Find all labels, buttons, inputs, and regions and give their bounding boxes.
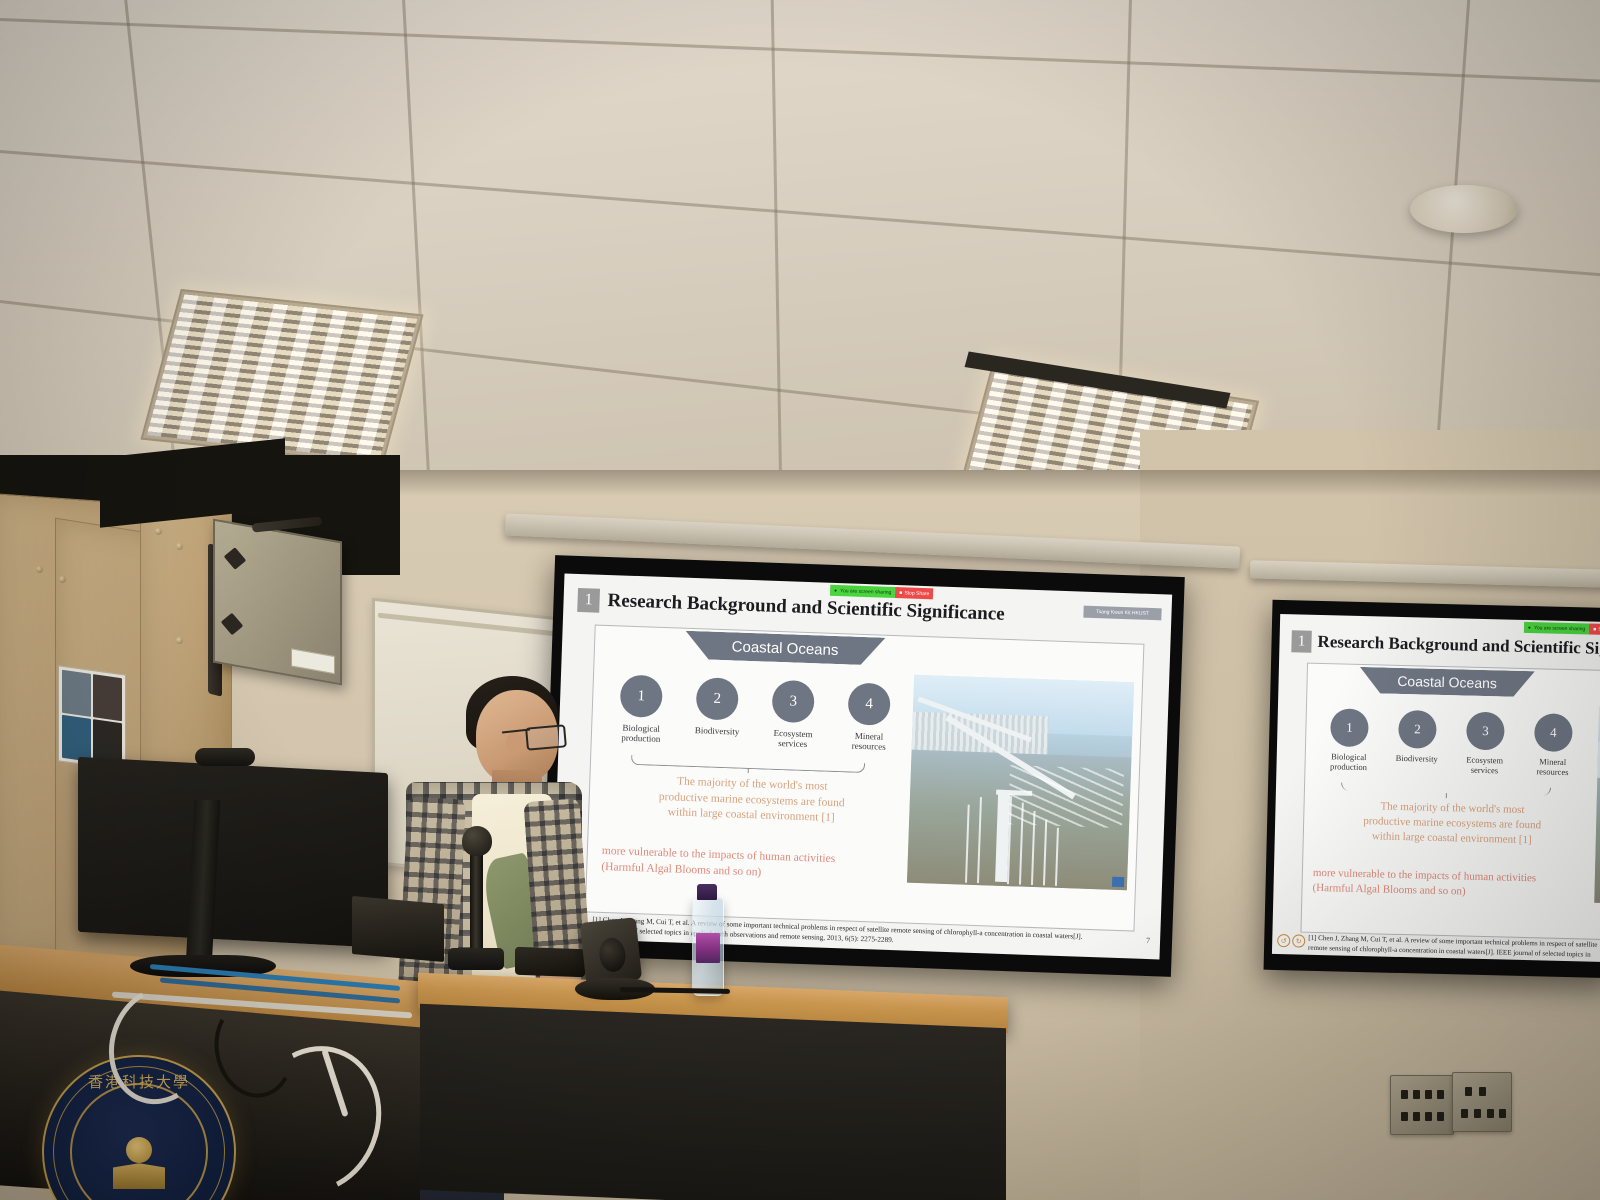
screen-share-status-secondary: ● You are screen sharing — [1524, 622, 1590, 635]
slide-section-number-secondary: 1 — [1291, 630, 1312, 652]
photo-watermark — [1112, 877, 1124, 887]
cabinet-knob[interactable] — [176, 637, 183, 644]
cabinet-knob[interactable] — [176, 543, 183, 550]
stop-icon: ■ — [1593, 626, 1596, 632]
item-label-4: Mineral resources — [830, 730, 909, 753]
stop-share-button[interactable]: ■ Stop Share — [895, 587, 933, 599]
lecture-hall-scene: ● You are screen sharing ■ Stop Share 1 … — [0, 0, 1600, 1200]
presenter-ear — [506, 732, 523, 754]
eyeglasses — [525, 724, 567, 750]
screen-share-label: You are screen sharing — [1534, 625, 1585, 632]
stop-share-label: Stop Share — [904, 590, 929, 597]
data-outlet-plate[interactable] — [1452, 1072, 1512, 1132]
screen-share-icon: ● — [834, 587, 837, 593]
main-projection-screen: ● You are screen sharing ■ Stop Share 1 … — [541, 555, 1185, 977]
screen-share-bar: ● You are screen sharing ■ Stop Share — [830, 585, 934, 600]
item-circle-1-secondary: 1 — [1330, 708, 1369, 747]
item-circle-2: 2 — [696, 677, 739, 720]
statement-orange: The majority of the world's most product… — [611, 772, 892, 828]
statement-orange-secondary: The majority of the world's most product… — [1322, 798, 1583, 849]
statement-red-secondary: more vulnerable to the impacts of human … — [1312, 866, 1600, 903]
item-label-3-secondary: Ecosystem services — [1449, 755, 1519, 776]
slide-title: Research Background and Scientific Signi… — [607, 590, 1005, 626]
slide-content-panel: Coastal Oceans 1 2 3 4 Biological produc… — [585, 625, 1145, 932]
wall-notice-poster — [58, 665, 126, 771]
presentation-desk-front — [420, 1004, 1006, 1200]
coastal-oceans-banner: Coastal Oceans — [685, 631, 886, 666]
presenter-monitor — [78, 757, 388, 948]
microphone-head — [462, 826, 492, 856]
aerial-coastal-photo-secondary — [1594, 707, 1600, 908]
ceiling-speaker — [1410, 185, 1518, 233]
screen-share-status: ● You are screen sharing — [830, 585, 896, 598]
item-label-2: Biodiversity — [678, 725, 756, 738]
item-circle-1: 1 — [620, 675, 663, 718]
aerial-coastal-photo — [907, 675, 1134, 891]
secondary-projection-screen: ● You are screen sharing ■ Stop Share 1 … — [1264, 600, 1600, 978]
statement-red: more vulnerable to the impacts of human … — [601, 844, 912, 886]
seal-book — [113, 1163, 165, 1189]
webcam[interactable] — [195, 748, 255, 766]
item-label-3: Ecosystem services — [754, 727, 833, 750]
water-bottle[interactable] — [692, 898, 724, 996]
presenter-badge: Tsang Kwun Kit HKUST — [1083, 606, 1161, 621]
item-label-1: Biological production — [602, 722, 681, 745]
screen-share-icon: ● — [1528, 625, 1531, 631]
grouping-brace — [631, 755, 865, 773]
slide-section-number: 1 — [577, 588, 600, 613]
item-circle-4-secondary: 4 — [1534, 713, 1573, 752]
slide-title-secondary: Research Background and Scientific Signi… — [1317, 632, 1600, 661]
item-label-1-secondary: Biological production — [1313, 752, 1383, 773]
item-circle-4: 4 — [847, 682, 890, 725]
item-circle-3: 3 — [771, 680, 814, 723]
power-outlet-plate[interactable] — [1390, 1075, 1454, 1135]
grouping-brace-secondary — [1341, 783, 1551, 796]
cabinet-knob[interactable] — [155, 528, 162, 535]
av-control-box[interactable] — [515, 947, 585, 977]
microphone-base — [448, 948, 504, 970]
slide-content-panel-secondary: Coastal Oceans 1 2 3 4 Biological produc… — [1300, 663, 1600, 945]
electrical-enclosure-box — [213, 519, 342, 686]
item-label-2-secondary: Biodiversity — [1382, 753, 1452, 764]
item-label-4-secondary: Mineral resources — [1517, 757, 1587, 778]
nav-back-icon-secondary[interactable]: ↺ — [1277, 934, 1290, 947]
cabinet-knob[interactable] — [36, 566, 43, 573]
screen-share-label: You are screen sharing — [840, 588, 891, 596]
laptop[interactable] — [352, 896, 444, 962]
item-circle-3-secondary: 3 — [1466, 712, 1505, 751]
conference-camera[interactable] — [580, 917, 642, 985]
bottle-label — [696, 933, 720, 963]
slide-page-number: 7 — [1146, 936, 1150, 945]
main-slide: ● You are screen sharing ■ Stop Share 1 … — [552, 573, 1172, 959]
cabinet-knob[interactable] — [59, 576, 66, 583]
secondary-slide: ● You are screen sharing ■ Stop Share 1 … — [1272, 614, 1600, 962]
bottle-cap[interactable] — [697, 884, 717, 900]
stop-share-button-secondary[interactable]: ■ Stop Share — [1589, 624, 1600, 636]
seal-sun — [126, 1137, 152, 1163]
item-circle-2-secondary: 2 — [1398, 710, 1437, 749]
stop-icon: ■ — [899, 590, 902, 596]
coastal-oceans-banner-secondary: Coastal Oceans — [1359, 667, 1535, 697]
screen-share-bar-secondary: ● You are screen sharing ■ Stop Share — [1524, 622, 1600, 636]
nav-forward-icon-secondary[interactable]: ↻ — [1292, 934, 1305, 947]
